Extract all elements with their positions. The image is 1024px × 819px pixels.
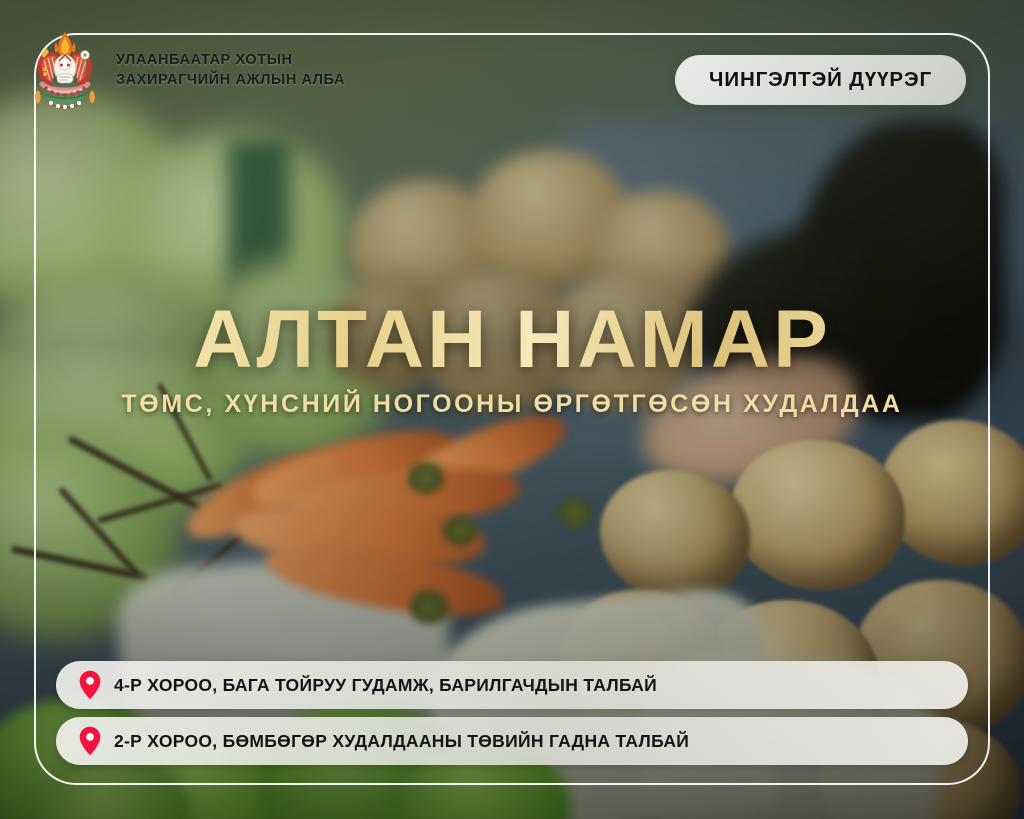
location-list: 4-Р ХОРОО, БАГА ТОЙРУУ ГУДАМЖ, БАРИЛГАЧД… (56, 661, 968, 765)
poster-canvas: УЛААНБААТАР ХОТЫН ЗАХИРАГЧИЙН АЖЛЫН АЛБА… (0, 0, 1024, 819)
organization-name: УЛААНБААТАР ХОТЫН ЗАХИРАГЧИЙН АЖЛЫН АЛБА (116, 50, 345, 90)
location-address: 4-Р ХОРОО, БАГА ТОЙРУУ ГУДАМЖ, БАРИЛГАЧД… (114, 675, 657, 696)
location-address: 2-Р ХОРОО, БӨМБӨГӨР ХУДАЛДААНЫ ТӨВИЙН ГА… (114, 731, 689, 752)
headline-block: АЛТАН НАМАР ТӨМС, ХҮНСНИЙ НОГООНЫ ӨРГӨТГ… (0, 300, 1024, 419)
list-item: 2-Р ХОРОО, БӨМБӨГӨР ХУДАЛДААНЫ ТӨВИЙН ГА… (56, 717, 968, 765)
page-title: АЛТАН НАМАР (0, 300, 1024, 380)
map-pin-icon (78, 670, 102, 700)
district-badge: ЧИНГЭЛТЭЙ ДҮҮРЭГ (675, 55, 966, 105)
list-item: 4-Р ХОРОО, БАГА ТОЙРУУ ГУДАМЖ, БАРИЛГАЧД… (56, 661, 968, 709)
page-subtitle: ТӨМС, ХҮНСНИЙ НОГООНЫ ӨРГӨТГӨСӨН ХУДАЛДА… (0, 390, 1024, 419)
ulaanbaatar-coat-of-arms-icon (28, 28, 102, 112)
map-pin-icon (78, 726, 102, 756)
brand-lockup: УЛААНБААТАР ХОТЫН ЗАХИРАГЧИЙН АЖЛЫН АЛБА (28, 28, 345, 112)
